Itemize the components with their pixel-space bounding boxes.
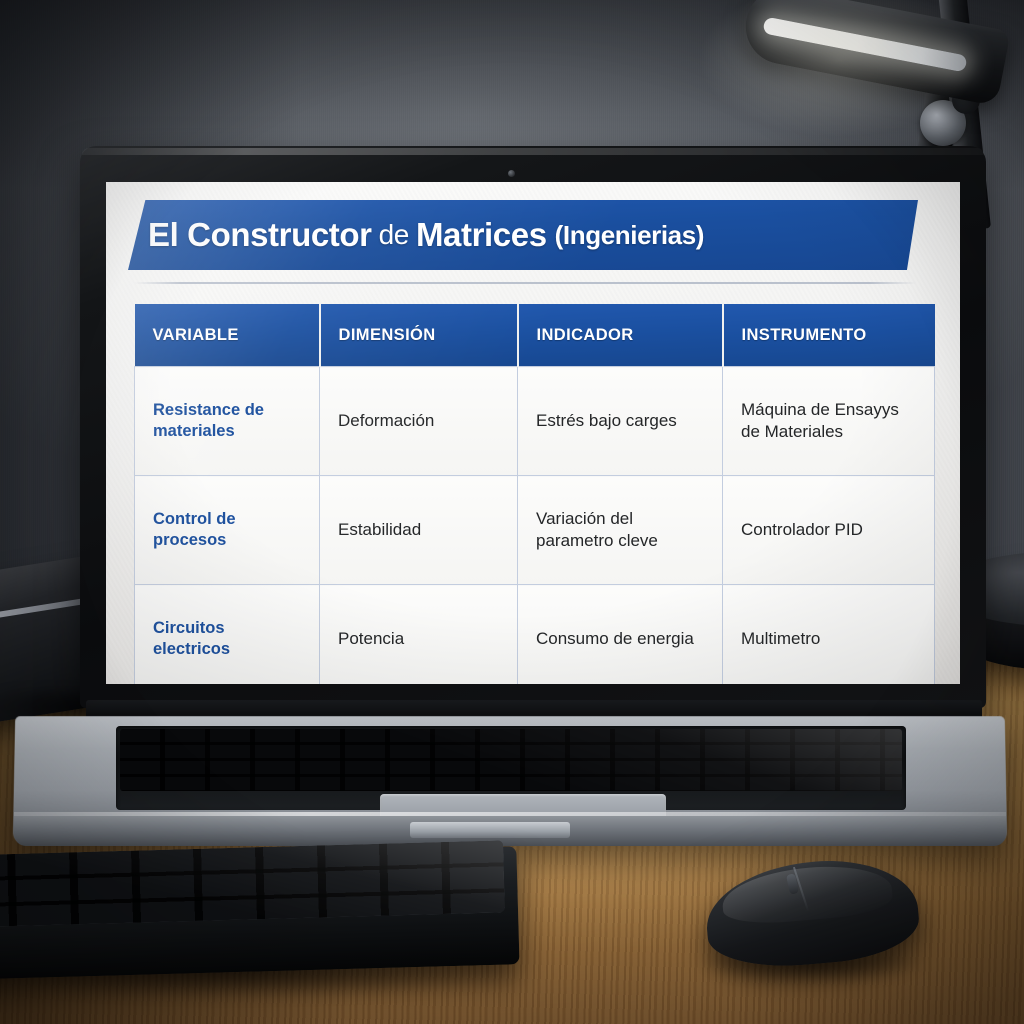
cell-variable: Control de procesos [135,476,320,585]
cell-indicador: Consumo de energia [518,585,723,685]
table-header-row: VARIABLE DIMENSIÓN INDICADOR INSTRUMENTO [135,304,935,367]
column-header-dimension[interactable]: DIMENSIÓN [320,304,518,367]
table-row: Control de procesos Estabilidad Variació… [135,476,935,585]
cell-instrumento: Controlador PID [723,476,935,585]
title-part-4: (Ingenierias) [547,220,704,251]
cell-indicador: Estrés bajo carges [518,367,723,476]
table-row: Resistance de materiales Deformación Est… [135,367,935,476]
matrix-table: VARIABLE DIMENSIÓN INDICADOR INSTRUMENTO… [134,304,935,684]
title-part-1: El Constructor [148,216,372,254]
desk-scene: El Constructor de Matrices (Ingenierias)… [0,0,1024,1024]
cell-dimension: Potencia [320,585,518,685]
title-part-2: de [372,219,416,251]
laptop-keyboard-sheen [120,729,902,791]
cell-indicador: Variación del parametro cleve [518,476,723,585]
cell-instrumento: Máquina de Ensayys de Materiales [723,367,935,476]
column-header-variable[interactable]: VARIABLE [135,304,320,367]
cell-instrumento: Multimetro [723,585,935,685]
page-title: El Constructor de Matrices (Ingenierias) [148,200,918,270]
column-header-instrumento[interactable]: INSTRUMENTO [723,304,935,367]
table-row: Circuitos electricos Potencia Consumo de… [135,585,935,685]
cell-dimension: Estabilidad [320,476,518,585]
laptop-lid-highlight [82,148,984,155]
laptop-screen: El Constructor de Matrices (Ingenierias)… [106,182,960,684]
laptop-latch [410,822,570,838]
title-part-3: Matrices [416,216,547,254]
webcam-icon [508,170,515,177]
cell-variable: Resistance de materiales [135,367,320,476]
cell-variable: Circuitos electricos [135,585,320,685]
title-divider [134,282,916,284]
cell-dimension: Deformación [320,367,518,476]
column-header-indicador[interactable]: INDICADOR [518,304,723,367]
presentation-slide: El Constructor de Matrices (Ingenierias)… [106,182,960,684]
